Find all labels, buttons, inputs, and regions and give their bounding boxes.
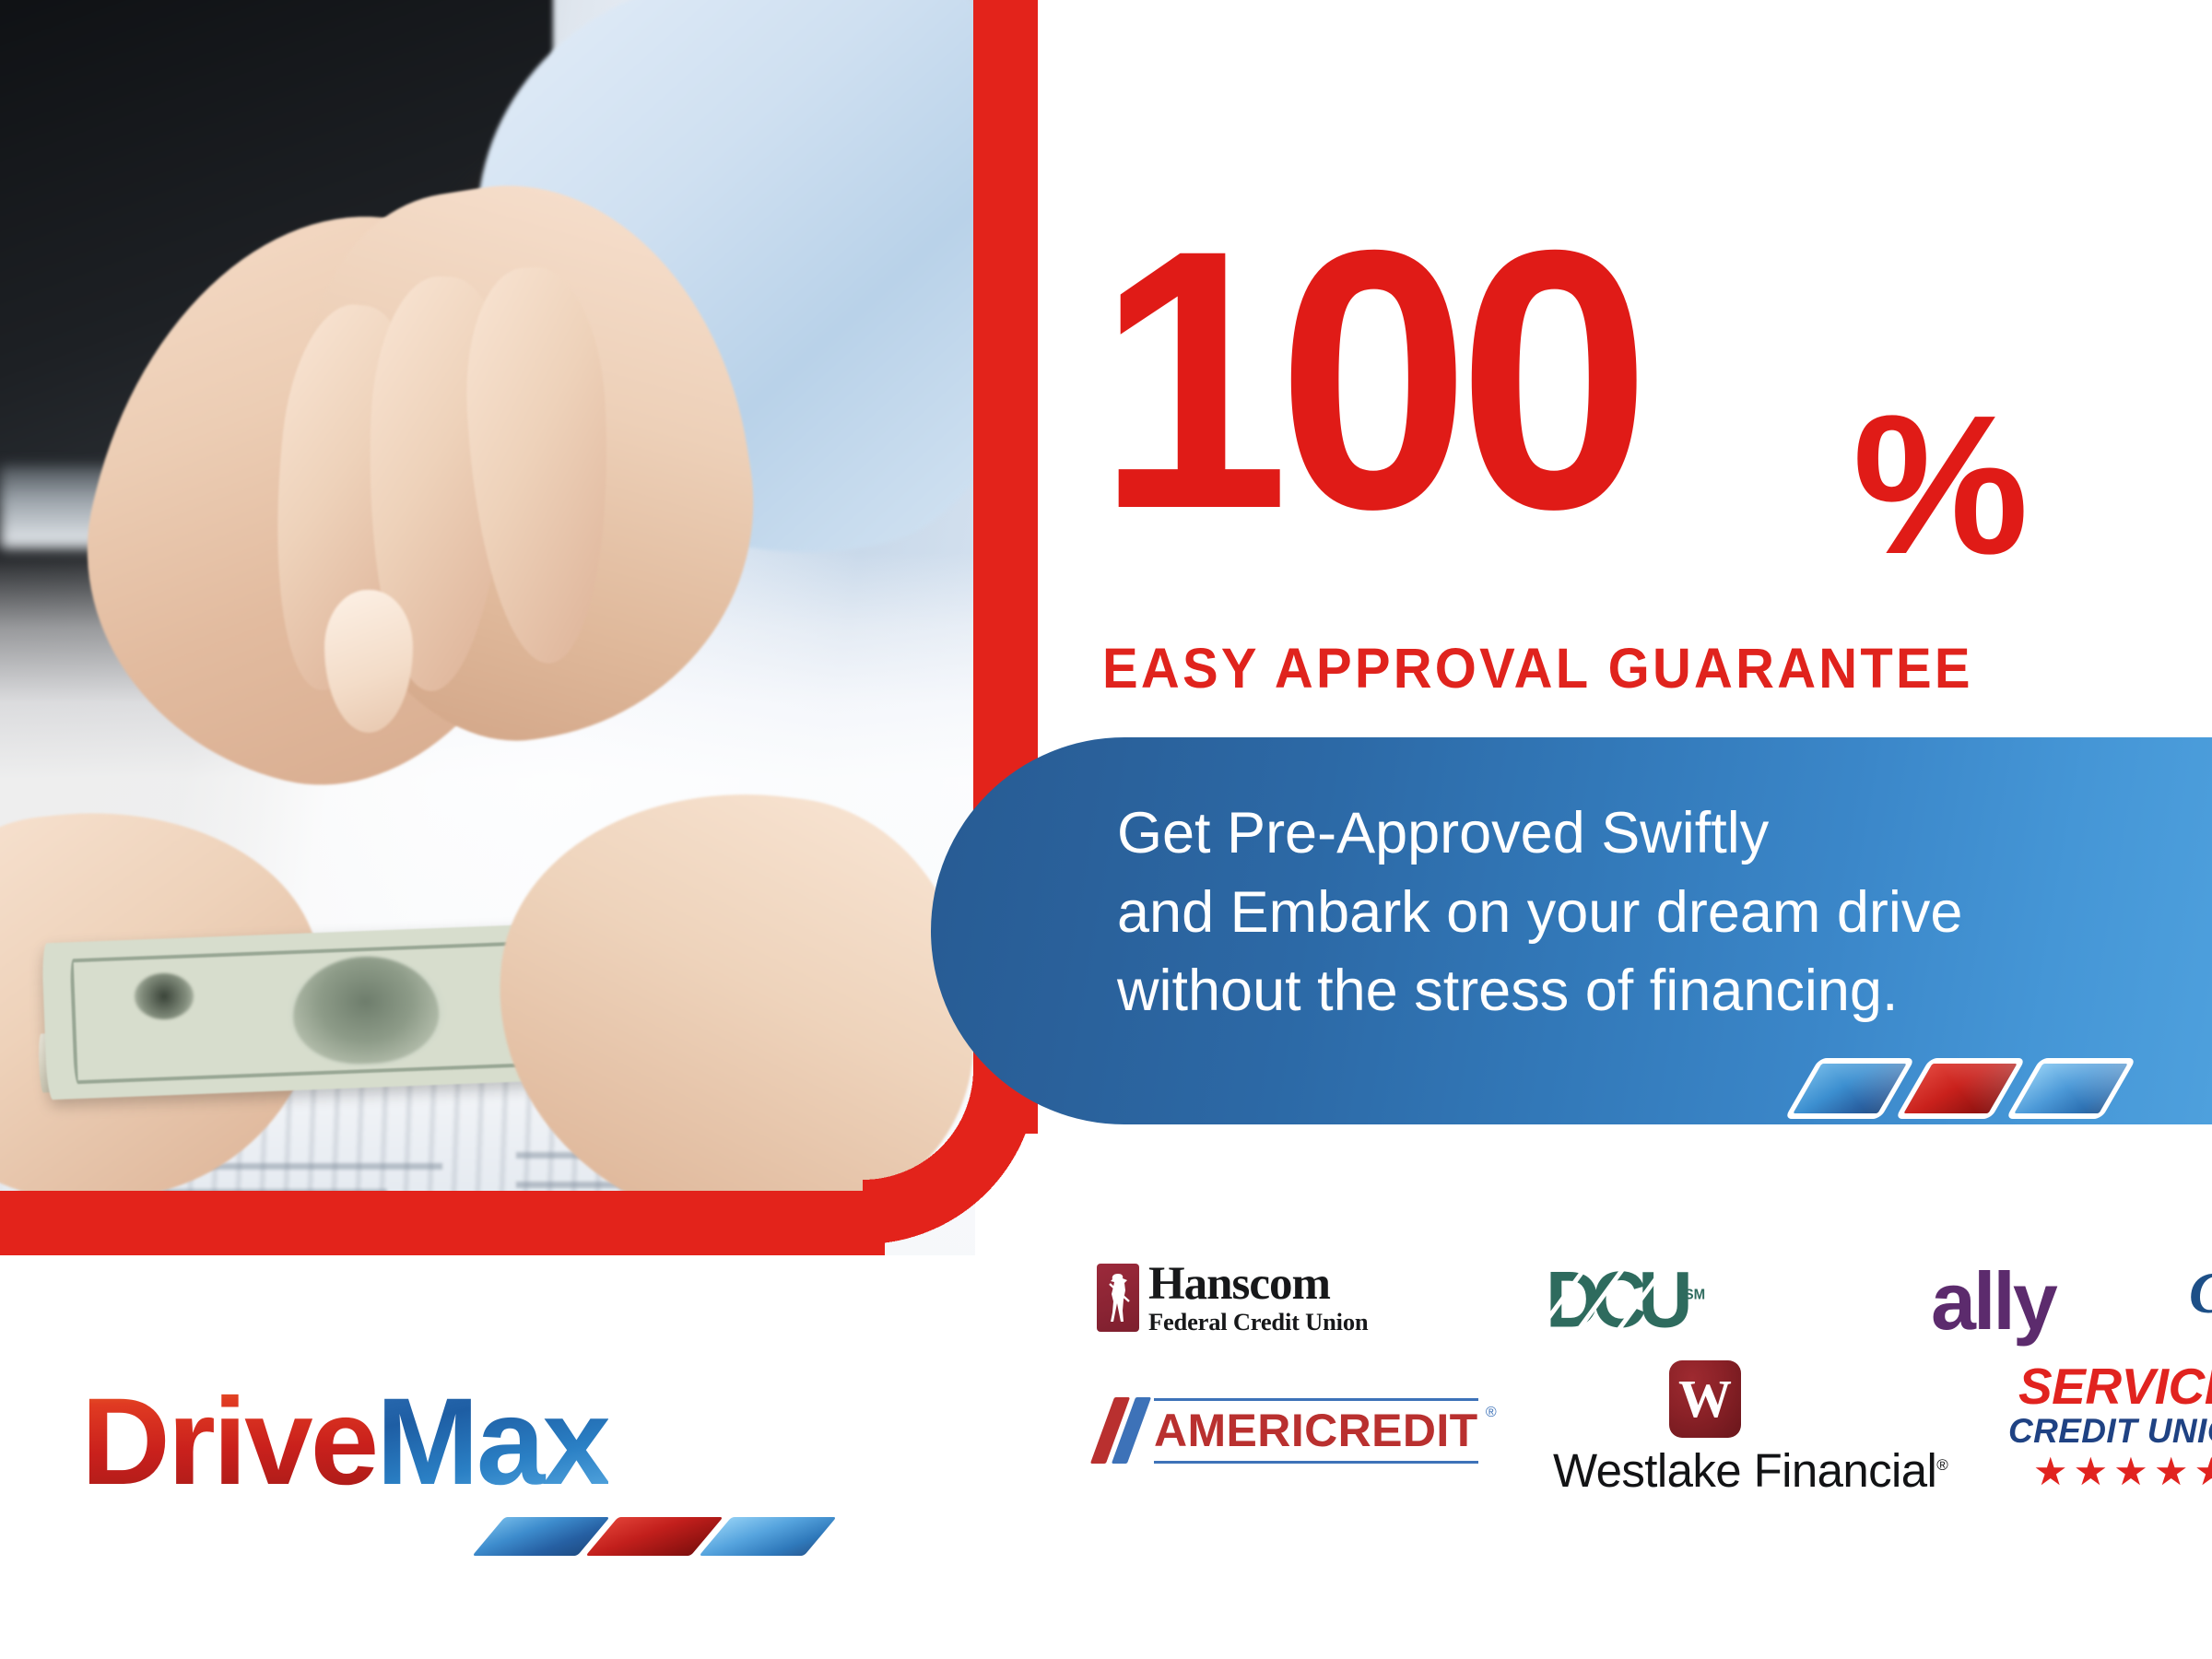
chevron-red-icon [1895,1058,2026,1119]
headline-subtitle: EASY APPROVAL GUARANTEE [1102,636,1973,700]
service-cu-subtitle: CREDIT UNION [2000,1413,2212,1451]
red-frame-corner-curve [863,1069,1038,1255]
banner-line-2: and Embark on your dream drive [1117,874,2159,953]
service-cu-stars-icon: ★★★★★ [2000,1453,2212,1491]
lender-logo-grid: Hanscom Federal Credit Union DCUSM ally [1097,1261,2166,1574]
headline-group: 100 % [1097,221,2018,538]
americredit-registered-mark: ® [1486,1405,1497,1421]
westlake-mark-letter: W [1678,1372,1732,1426]
westlake-wordmark: Westlake Financial® [1553,1443,1857,1498]
lender-logo-americredit[interactable]: AMERICREDIT ® [1102,1397,1478,1464]
dcu-wordmark: DCUSM [1546,1261,1705,1340]
americredit-slash-icon [1102,1397,1139,1464]
lender-logo-westlake-financial[interactable]: W Westlake Financial® [1553,1360,1857,1498]
service-cu-name: SERVICE [2018,1360,2212,1412]
westlake-name: Westlake Financial [1553,1444,1936,1497]
advertisement-banner: 100 % EASY APPROVAL GUARANTEE Get Pre-Ap… [0,0,2212,1659]
americredit-rule-bottom [1154,1461,1478,1464]
capital-one-wordmark: CapitalOne [2189,1255,2212,1329]
minuteman-shield-icon [1097,1264,1139,1332]
photo-bill-seal [135,973,194,1019]
hanscom-name: Hanscom [1148,1261,1368,1308]
drivemax-logo[interactable]: DriveMax [81,1381,608,1504]
dcu-name: DCU [1546,1256,1685,1345]
chevron-blue-light-icon [2006,1058,2136,1119]
lender-logo-dcu[interactable]: DCUSM [1546,1263,1705,1338]
hero-photo [0,0,975,1255]
westlake-w-badge-icon: W [1669,1360,1741,1438]
minuteman-figure-icon [1104,1272,1132,1324]
americredit-text-ameri: AMERI [1154,1405,1304,1456]
dcu-trademark: SM [1685,1287,1706,1303]
banner-line-3: without the stress of financing. [1117,952,2159,1031]
logo-text-max: Max [376,1373,608,1511]
lender-logo-service-credit-union[interactable]: SERVICE® CREDIT UNION ★★★★★ [2000,1360,2212,1491]
capital-one-text-capital: Capital [2189,1260,2212,1325]
americredit-text-credit: CREDIT [1304,1405,1478,1456]
banner-chevron-group [1802,1058,2119,1119]
logo-chevron-blue-light-icon [699,1517,836,1556]
americredit-wordmark: AMERICREDIT [1154,1406,1478,1455]
logo-chevron-group [488,1517,820,1556]
banner-line-1: Get Pre-Approved Swiftly [1117,794,2159,874]
ally-wordmark: ally [1931,1255,2055,1347]
chevron-blue-dark-icon [1784,1058,1915,1119]
americredit-rule-top [1154,1398,1478,1401]
logo-text-drive: Drive [81,1373,376,1511]
banner-message: Get Pre-Approved Swiftly and Embark on y… [1117,794,2159,1031]
hanscom-subtitle: Federal Credit Union [1148,1310,1368,1335]
headline-percent-sign: % [1853,385,2029,583]
lender-logo-capital-one[interactable]: CapitalOne [2189,1255,2212,1329]
drivemax-wordmark: DriveMax [81,1381,608,1504]
red-frame-horizontal-bar [0,1191,885,1255]
hanscom-text-block: Hanscom Federal Credit Union [1148,1261,1368,1335]
service-cu-wordmark: SERVICE® [2000,1360,2212,1412]
lender-logo-ally[interactable]: ally [1931,1261,2055,1342]
westlake-registered-mark: ® [1936,1456,1947,1474]
headline-number: 100 [1097,221,1963,538]
lender-logo-hanscom[interactable]: Hanscom Federal Credit Union [1097,1261,1368,1335]
americredit-text-block: AMERICREDIT ® [1154,1406,1478,1455]
